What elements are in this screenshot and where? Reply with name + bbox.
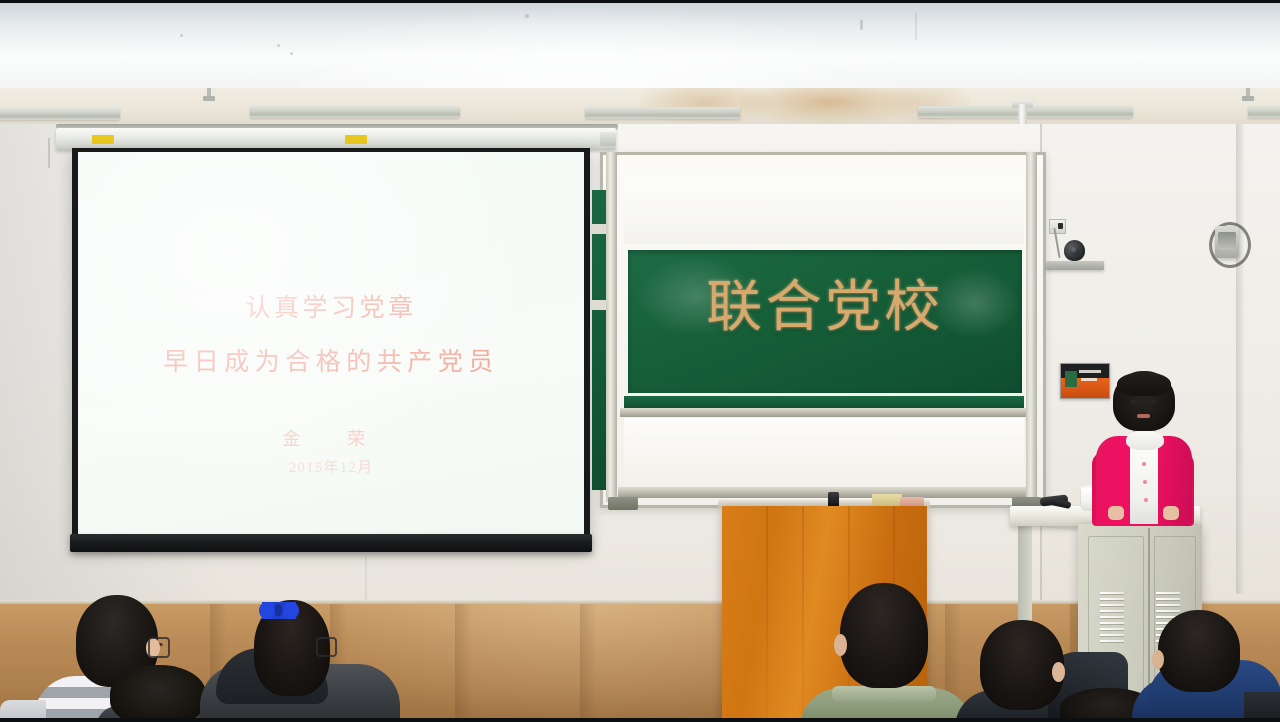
podium-vent-louver bbox=[1100, 592, 1124, 594]
roller-label-sticker bbox=[92, 135, 114, 144]
slide-title-line2: 早日成为合格的共产党员 bbox=[78, 342, 584, 378]
student-4-head bbox=[840, 583, 928, 688]
podium-vent-louver bbox=[1156, 598, 1180, 600]
roller-label-sticker bbox=[345, 135, 367, 144]
lectern-black-device[interactable] bbox=[828, 492, 839, 506]
slide-author: 金 荣 bbox=[78, 425, 584, 451]
board-rail-right bbox=[1026, 152, 1037, 502]
letterbox-top-bar bbox=[0, 0, 1280, 3]
ceiling-mark bbox=[180, 34, 183, 37]
hidden-board-slice bbox=[592, 190, 606, 490]
presenter-turtleneck-collar bbox=[1126, 430, 1164, 450]
board-lower-white-panel bbox=[624, 418, 1024, 486]
podium-vent-louver bbox=[1156, 604, 1180, 606]
board-support-foot bbox=[608, 497, 638, 510]
presenter-bangs bbox=[1117, 372, 1171, 396]
camera-lens-icon bbox=[1070, 246, 1079, 255]
ceiling-light-fixture bbox=[585, 107, 740, 119]
wall-seam bbox=[365, 556, 367, 604]
floor-plank bbox=[580, 604, 675, 722]
chalk-tray-bottom bbox=[618, 487, 1030, 498]
ceiling-hook bbox=[1242, 88, 1254, 102]
lecture-hall-photo: 认真学习党章 早日成为合格的共产党员 金 荣 2015年12月 联合党校 bbox=[0, 0, 1280, 722]
ceiling-mark bbox=[277, 44, 280, 47]
screen-roller-housing[interactable] bbox=[56, 128, 616, 150]
poster-green-area bbox=[1065, 371, 1077, 387]
chalkboard-text: 联合党校 bbox=[628, 262, 1022, 343]
wall-speaker-icon bbox=[1215, 226, 1239, 258]
ceiling-light-glow bbox=[300, 3, 920, 88]
camera-shelf bbox=[1046, 261, 1104, 270]
wall-corner-edge bbox=[1236, 124, 1244, 594]
ceiling-light-fixture bbox=[1248, 106, 1280, 118]
student-1-glasses-lens bbox=[148, 637, 170, 658]
podium-vent-louver bbox=[1100, 640, 1124, 642]
wall-poster bbox=[1060, 363, 1110, 399]
board-slice-gap bbox=[592, 224, 606, 234]
presenter-right-hand bbox=[1163, 506, 1179, 520]
ceiling-mark bbox=[915, 12, 917, 40]
podium-vent-louver bbox=[1100, 598, 1124, 600]
presenter-right-eye bbox=[1150, 400, 1157, 403]
slide-title-line1: 认真学习党章 bbox=[78, 288, 584, 324]
roller-endcap bbox=[600, 132, 616, 146]
presenter-left-eye bbox=[1130, 400, 1137, 403]
roller-pull-cord[interactable] bbox=[48, 138, 50, 168]
poster-text-line bbox=[1081, 378, 1097, 381]
wood-grain-line bbox=[766, 506, 768, 722]
student-3-glasses-lens bbox=[316, 637, 337, 657]
podium-vent-louver bbox=[1100, 634, 1124, 636]
board-lower-green-strip bbox=[624, 396, 1024, 408]
podium-vent-louver bbox=[1156, 610, 1180, 612]
student-4-ear bbox=[834, 634, 847, 656]
presenter-mouth bbox=[1137, 414, 1150, 418]
student-7-head bbox=[1158, 610, 1240, 692]
ceiling-hook bbox=[203, 88, 215, 102]
student-7-ear bbox=[1152, 650, 1164, 669]
camera-wall-plate bbox=[1049, 219, 1066, 234]
podium-vent-louver bbox=[1156, 592, 1180, 594]
board-slice-gap bbox=[592, 300, 606, 310]
student-3-bow-knot bbox=[275, 604, 282, 616]
letterbox-bottom-bar bbox=[0, 718, 1280, 722]
ceiling-mark bbox=[290, 52, 293, 55]
chalk-tray bbox=[620, 408, 1028, 417]
projector-screen-bottom-bar bbox=[70, 534, 592, 552]
podium-vent-louver bbox=[1100, 628, 1124, 630]
student-5-ear bbox=[1052, 662, 1065, 682]
poster-text-line bbox=[1079, 370, 1101, 373]
podium-vent-louver bbox=[1100, 622, 1124, 624]
ceiling-mark bbox=[525, 14, 529, 18]
ceiling-light-fixture bbox=[250, 106, 460, 118]
podium-vent-louver bbox=[1100, 604, 1124, 606]
wood-grain-line bbox=[802, 506, 804, 722]
floor-plank bbox=[455, 604, 550, 722]
cardigan-button bbox=[1143, 480, 1147, 484]
student-4-collar bbox=[832, 686, 936, 702]
slide-date: 2015年12月 bbox=[78, 456, 584, 477]
board-rail-left bbox=[606, 152, 617, 502]
presenter-left-hand bbox=[1108, 506, 1124, 520]
ceiling-light-fixture bbox=[0, 108, 120, 120]
podium-vent-louver bbox=[1100, 610, 1124, 612]
presenter-shirt bbox=[1130, 444, 1158, 524]
cardigan-button bbox=[1144, 498, 1148, 502]
board-upper-white-panel bbox=[624, 176, 1024, 244]
ceiling-mark bbox=[860, 20, 863, 30]
podium-vent-louver bbox=[1100, 616, 1124, 618]
cardigan-button bbox=[1142, 462, 1146, 466]
student-5-head bbox=[980, 620, 1064, 710]
student-2-head bbox=[110, 665, 206, 722]
